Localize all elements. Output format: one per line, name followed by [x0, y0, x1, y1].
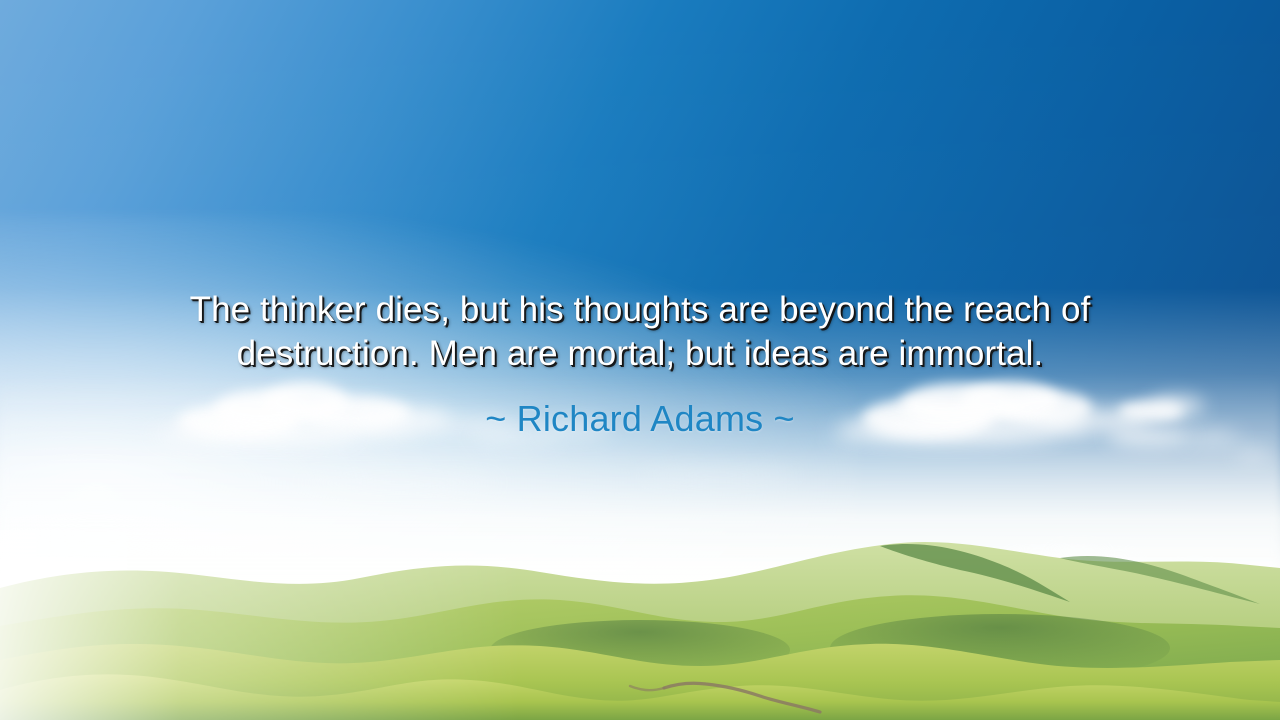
quote-block: The thinker dies, but his thoughts are b… — [0, 288, 1280, 440]
quote-wallpaper: The thinker dies, but his thoughts are b… — [0, 0, 1280, 720]
green-hills — [0, 530, 1280, 720]
quote-text: The thinker dies, but his thoughts are b… — [110, 288, 1170, 376]
hills-illustration — [0, 530, 1280, 720]
quote-author: ~ Richard Adams ~ — [60, 398, 1220, 440]
hill-sun-glow — [0, 530, 520, 720]
